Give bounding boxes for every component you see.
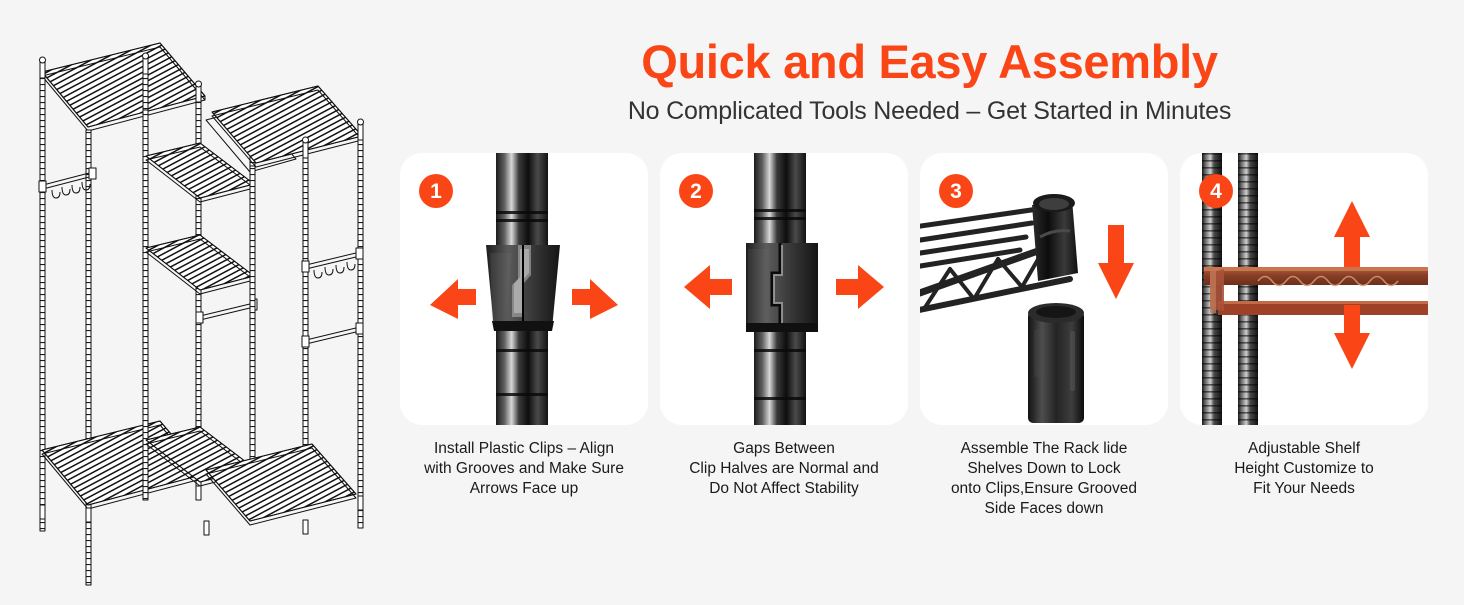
step-1-caption: Install Plastic Clips – Align with Groov… — [399, 439, 649, 499]
step-4-badge: 4 — [1199, 174, 1233, 208]
arrow-right-icon — [836, 265, 884, 309]
shelving-line-art-icon — [0, 0, 395, 600]
arrow-right-icon — [572, 279, 618, 319]
product-illustration — [0, 0, 395, 600]
step-2: 2 — [660, 153, 908, 519]
headline-block: Quick and Easy Assembly No Complicated T… — [395, 0, 1464, 127]
arrow-left-icon — [684, 265, 732, 309]
step-2-badge: 2 — [679, 174, 713, 208]
step-3-caption: Assemble The Rack lide Shelves Down to L… — [919, 439, 1169, 519]
arrow-up-icon — [1334, 201, 1370, 267]
page-title: Quick and Easy Assembly — [395, 34, 1464, 89]
arrow-down-icon — [1098, 225, 1134, 299]
content-column: Quick and Easy Assembly No Complicated T… — [395, 0, 1464, 600]
step-4: 4 — [1180, 153, 1428, 519]
arrow-left-icon — [430, 279, 476, 319]
step-3-card: 3 — [920, 153, 1168, 425]
steps-row: 1 — [395, 153, 1464, 519]
step-3-badge: 3 — [939, 174, 973, 208]
step-3: 3 — [920, 153, 1168, 519]
page-subtitle: No Complicated Tools Needed – Get Starte… — [395, 95, 1464, 127]
step-4-card: 4 — [1180, 153, 1428, 425]
step-1-card: 1 — [400, 153, 648, 425]
step-1-badge: 1 — [419, 174, 453, 208]
step-2-caption: Gaps Between Clip Halves are Normal and … — [659, 439, 909, 499]
step-2-card: 2 — [660, 153, 908, 425]
step-4-caption: Adjustable Shelf Height Customize to Fit… — [1179, 439, 1429, 499]
step-1: 1 — [400, 153, 648, 519]
